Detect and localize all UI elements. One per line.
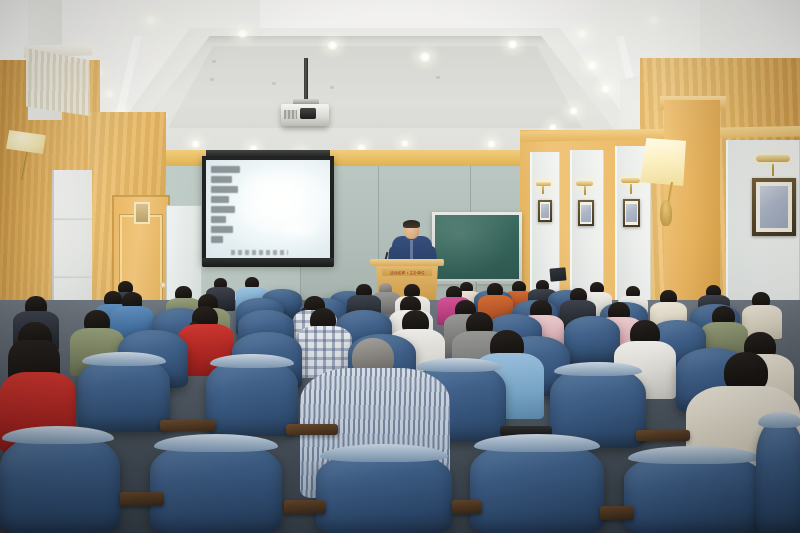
slide-text-line xyxy=(211,176,232,183)
chair-armrest xyxy=(120,492,164,506)
auditorium-chair-back[interactable] xyxy=(470,440,604,533)
slide-text-line xyxy=(211,226,233,233)
chair-top-rim xyxy=(416,358,502,372)
ceiling-downlight xyxy=(648,16,660,25)
chair-armrest xyxy=(160,420,216,431)
screen-bottom-bar xyxy=(202,258,334,267)
presenter-hair xyxy=(403,220,420,228)
auditorium-chair-back[interactable] xyxy=(564,316,620,364)
ceiling-downlight xyxy=(326,41,339,50)
slide-text-line xyxy=(211,236,223,243)
wall-sconce-light xyxy=(640,138,686,186)
wall-sconce-ornament xyxy=(660,200,672,226)
ceiling-downlight xyxy=(400,140,410,147)
picture-light xyxy=(621,178,640,183)
ceiling-downlight xyxy=(486,140,497,148)
ceiling-downlight xyxy=(104,90,115,98)
picture-light xyxy=(756,155,790,162)
chair-armrest xyxy=(636,430,690,441)
ceiling-fixture-dot xyxy=(272,82,276,85)
ceiling-fixture-dot xyxy=(210,78,214,81)
slide-text-line xyxy=(211,186,238,193)
artwork-image xyxy=(541,204,549,218)
auditorium-chair-back[interactable] xyxy=(756,418,800,533)
auditorium-chair-back[interactable] xyxy=(316,450,452,533)
ceiling-downlight xyxy=(586,61,598,70)
chair-top-rim xyxy=(320,444,448,462)
picture-light-arm xyxy=(542,186,544,194)
ceiling-downlight xyxy=(418,52,432,62)
projector-vent xyxy=(284,110,297,119)
auditorium-chair-back[interactable] xyxy=(0,432,120,533)
projection-screen-surface xyxy=(206,160,330,260)
chair-armrest xyxy=(284,500,326,514)
chair-top-rim xyxy=(758,412,800,428)
ceiling-fixture-dot xyxy=(330,86,334,89)
artwork-image xyxy=(581,205,591,222)
auditorium-chair-back[interactable] xyxy=(78,356,170,432)
slide-text-line xyxy=(211,206,235,213)
ceiling-downlight xyxy=(190,140,201,148)
lectern-top-surface xyxy=(370,259,444,266)
ceiling-downlight xyxy=(144,16,157,25)
chair-top-rim xyxy=(154,434,278,452)
ceiling-downlight xyxy=(576,29,589,38)
lectern-banner-text: 活动名称 • 主办单位 xyxy=(389,270,424,275)
projector-lens xyxy=(300,108,316,119)
picture-light xyxy=(576,181,593,186)
projected-slide-footer xyxy=(231,250,288,255)
ceiling-downlight xyxy=(236,29,249,38)
screen-hotspot xyxy=(275,216,322,242)
projection-screen xyxy=(202,156,334,264)
ceiling-downlight xyxy=(600,85,611,93)
auditorium-chair-back[interactable] xyxy=(206,358,298,436)
chair-top-rim xyxy=(210,354,294,368)
chair-armrest xyxy=(452,500,482,514)
framed-wall-art xyxy=(134,202,150,224)
chair-top-rim xyxy=(82,352,166,366)
slide-text-line xyxy=(211,166,240,173)
ceiling-fixture-dot xyxy=(436,76,440,79)
auditorium-chair-back[interactable] xyxy=(624,452,764,533)
projector-mount-pole xyxy=(304,58,308,102)
chair-top-rim xyxy=(554,362,642,376)
picture-light xyxy=(536,182,551,186)
ceiling-downlight xyxy=(568,107,579,115)
chair-top-rim xyxy=(2,426,114,444)
ceiling-tray-core xyxy=(150,46,600,128)
chair-armrest xyxy=(600,506,634,520)
chair-top-rim xyxy=(628,446,760,464)
artwork-image xyxy=(626,204,637,222)
picture-light-arm xyxy=(584,186,586,195)
picture-light-arm xyxy=(630,184,632,194)
laptop-screen xyxy=(549,267,566,281)
chair-top-rim xyxy=(474,434,600,452)
ceiling-downlight xyxy=(506,40,519,49)
chalkboard-surface xyxy=(435,215,519,279)
green-chalkboard xyxy=(432,212,522,282)
chair-armrest xyxy=(286,424,338,435)
picture-light-arm xyxy=(772,164,774,176)
artwork-image xyxy=(760,186,788,228)
lectern-banner: 活动名称 • 主办单位 xyxy=(382,269,432,276)
auditorium-chair-back[interactable] xyxy=(150,440,282,533)
chalkboard-tray xyxy=(434,281,520,284)
lecture-hall-photograph: 活动名称 • 主办单位 xyxy=(0,0,800,533)
ceiling-fixture-dot xyxy=(212,60,216,63)
slide-text-line xyxy=(211,196,229,203)
slide-text-line xyxy=(211,216,226,223)
wall-sconce-arm xyxy=(14,150,36,180)
projected-slide-text xyxy=(211,166,245,243)
